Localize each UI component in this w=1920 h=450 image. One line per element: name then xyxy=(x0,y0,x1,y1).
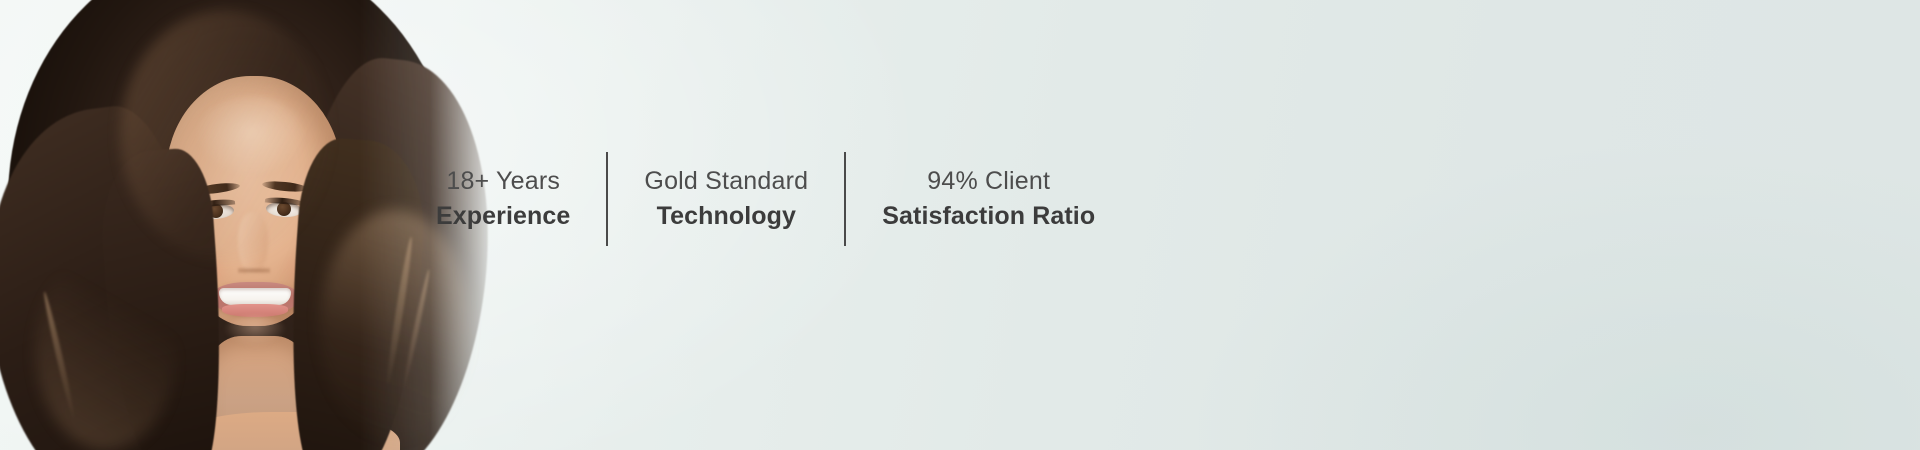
stat-bottom-label: Experience xyxy=(436,200,570,233)
stat-item-technology: Gold Standard Technology xyxy=(608,152,844,246)
stat-top-label: 18+ Years xyxy=(446,165,560,197)
stat-top-label: Gold Standard xyxy=(644,165,808,197)
stat-item-satisfaction: 94% Client Satisfaction Ratio xyxy=(846,152,1131,246)
hair-highlight-top xyxy=(120,10,330,260)
stat-item-experience: 18+ Years Experience xyxy=(400,152,606,246)
stat-bottom-label: Technology xyxy=(657,200,796,233)
stat-bottom-label: Satisfaction Ratio xyxy=(882,200,1095,233)
stats-banner: 18+ Years Experience Gold Standard Techn… xyxy=(0,0,1920,450)
chin xyxy=(224,316,286,346)
teeth xyxy=(219,288,291,305)
stats-group: 18+ Years Experience Gold Standard Techn… xyxy=(400,152,1131,246)
stat-top-label: 94% Client xyxy=(927,165,1050,197)
nostrils xyxy=(238,266,270,275)
